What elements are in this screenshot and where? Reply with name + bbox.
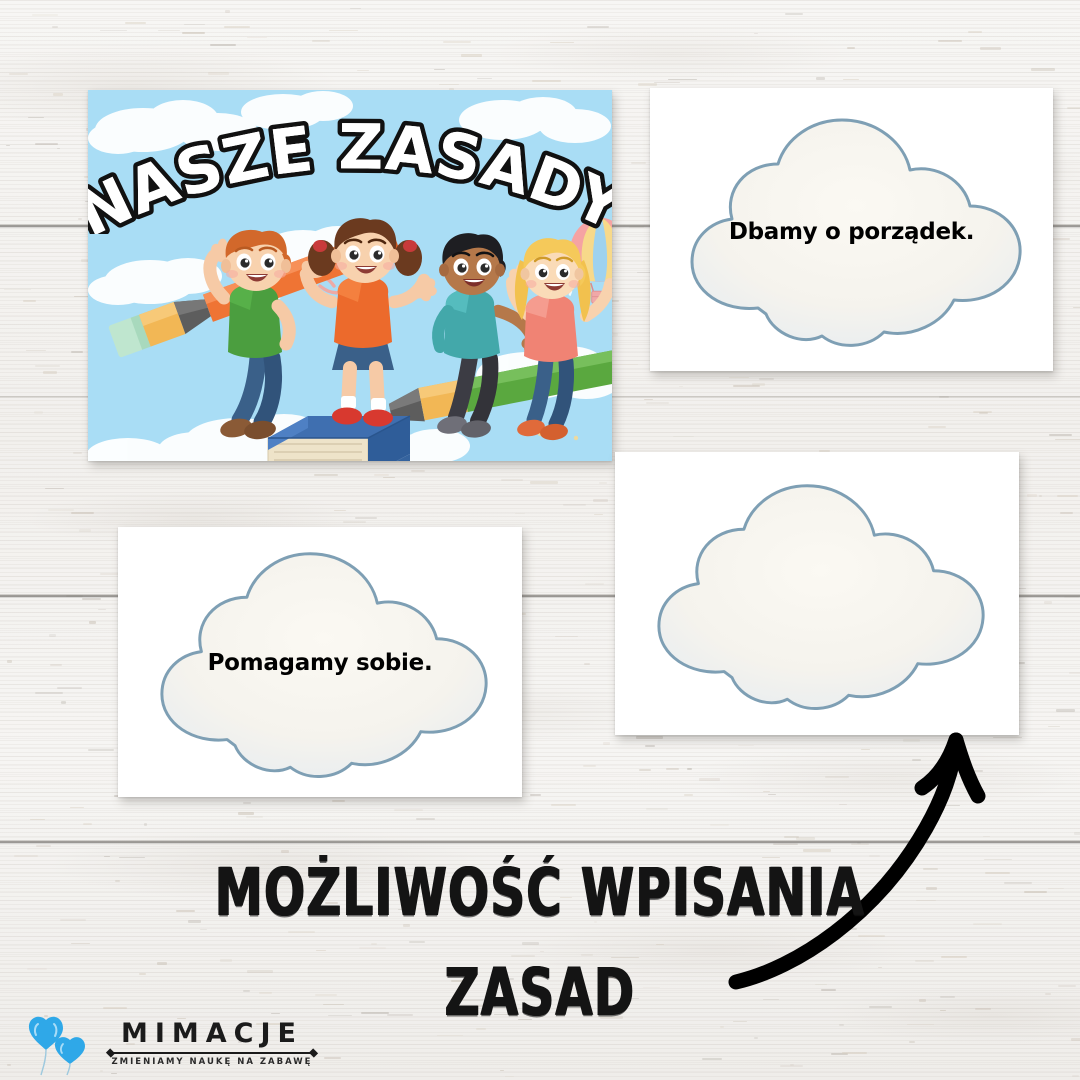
brand-name: MIMACJE (106, 1018, 318, 1049)
brand-logo[interactable]: MIMACJE ZMIENIAMY NAUKĘ NA ZABAWĘ (22, 1012, 322, 1078)
rule-card-2[interactable]: Pomagamy sobie. (118, 527, 522, 797)
poster-canvas: NASZE ZASADY NASZE ZASADY (0, 0, 1080, 1080)
heart-balloons-icon (26, 1016, 88, 1076)
rule-card-3-blank[interactable] (615, 452, 1019, 735)
brand-tagline: ZMIENIAMY NAUKĘ NA ZABAWĘ (106, 1057, 318, 1067)
orange-pencil-icon (143, 437, 264, 461)
curved-up-arrow-icon (700, 700, 1030, 1020)
rule-card-1[interactable]: Dbamy o porządek. (650, 88, 1053, 371)
child-green-shirt (210, 230, 291, 441)
cloud-shape-3 (615, 452, 1019, 735)
children-illustration (88, 90, 612, 461)
logo-divider (112, 1052, 312, 1054)
title-card[interactable]: NASZE ZASADY NASZE ZASADY (88, 90, 612, 461)
rule-text-2: Pomagamy sobie. (118, 650, 522, 676)
rule-text-1: Dbamy o porządek. (650, 219, 1053, 245)
